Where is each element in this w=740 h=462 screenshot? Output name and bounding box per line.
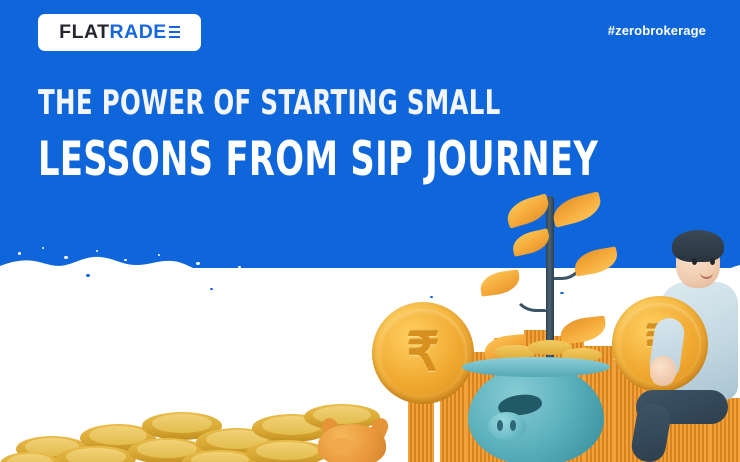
zerobrokerage-hashtag: #zerobrokerage [608, 23, 706, 38]
character-hair [672, 230, 724, 262]
piggy-nostril [510, 420, 516, 431]
edge-fleck [540, 280, 543, 283]
edge-fleck [672, 272, 675, 275]
headline-line-1: THE POWER OF STARTING SMALL [38, 86, 501, 120]
edge-fleck [96, 250, 98, 252]
headline-line-2: LESSONS FROM SIP JOURNEY [38, 136, 598, 183]
mini-piggy-bank [318, 424, 386, 462]
edge-fleck [318, 276, 320, 278]
edge-fleck [560, 292, 564, 294]
edge-fleck [86, 274, 90, 277]
edge-fleck [404, 282, 407, 285]
edge-fleck [196, 262, 200, 265]
character-eye [692, 258, 697, 265]
edge-fleck [18, 252, 21, 255]
promotional-banner: FLATRADE #zerobrokerage THE POWER OF STA… [0, 0, 740, 462]
edge-fleck [238, 266, 241, 268]
edge-fleck [158, 254, 160, 256]
edge-fleck [430, 296, 433, 298]
logo-wordmark: FLATRADE [59, 21, 180, 44]
edge-fleck [124, 259, 127, 261]
character-hand [650, 356, 676, 386]
rupee-coin-large: ₹ [372, 302, 474, 404]
plant-leaf [550, 191, 605, 227]
piggy-bank [468, 365, 604, 462]
scattered-coin [246, 440, 328, 462]
edge-fleck [42, 247, 44, 249]
mini-piggy-snout [330, 438, 352, 454]
logo-bars-icon [169, 26, 180, 40]
piggy-bank-snout [488, 412, 526, 440]
edge-fleck [276, 272, 279, 275]
logo-text-rade: RADE [110, 21, 167, 44]
edge-fleck [628, 278, 632, 280]
flattrade-logo[interactable]: FLATRADE [38, 14, 201, 51]
piggy-bank-rim [462, 357, 610, 377]
logo-text-flat: FLAT [59, 21, 109, 44]
edge-fleck [210, 288, 213, 290]
edge-fleck [64, 256, 68, 259]
character-eye [710, 258, 715, 265]
edge-fleck [448, 278, 450, 280]
edge-fleck [362, 280, 366, 282]
rupee-symbol: ₹ [372, 302, 474, 404]
piggy-nostril [497, 420, 503, 431]
